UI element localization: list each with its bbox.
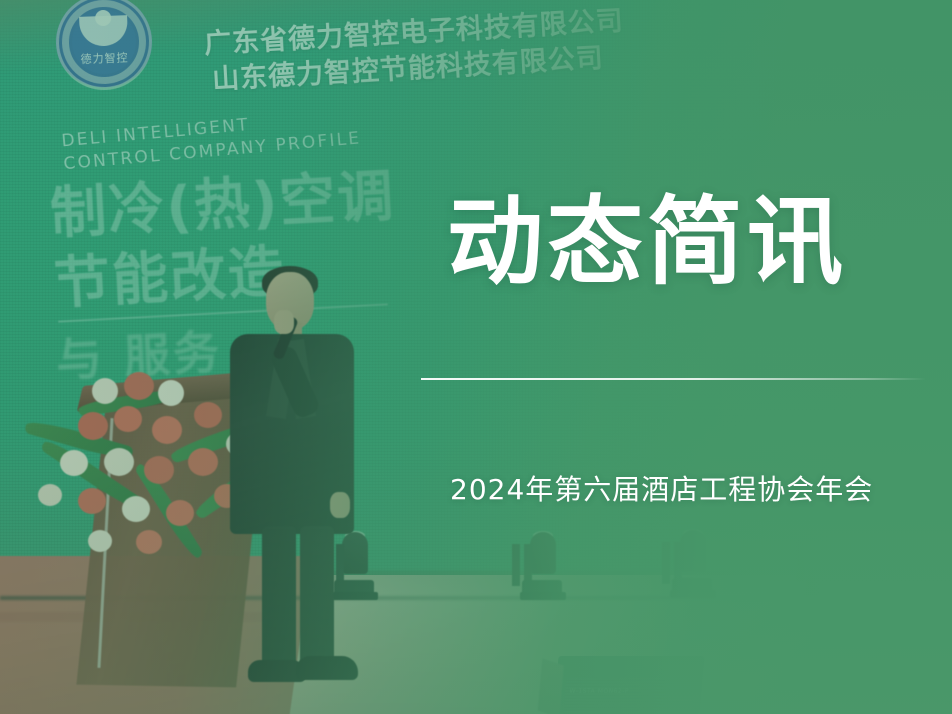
page-title: 动态简讯: [447, 192, 847, 294]
page-subtitle: 2024年第六届酒店工程协会年会: [450, 468, 873, 508]
title-block: 动态简讯 2024年第六届酒店工程协会年会: [0, 0, 952, 714]
slide-canvas: 德力智控 广东省德力智控电子科技有限公司 山东德力智控节能科技有限公司 DELI…: [0, 0, 952, 714]
title-divider: [421, 378, 926, 380]
